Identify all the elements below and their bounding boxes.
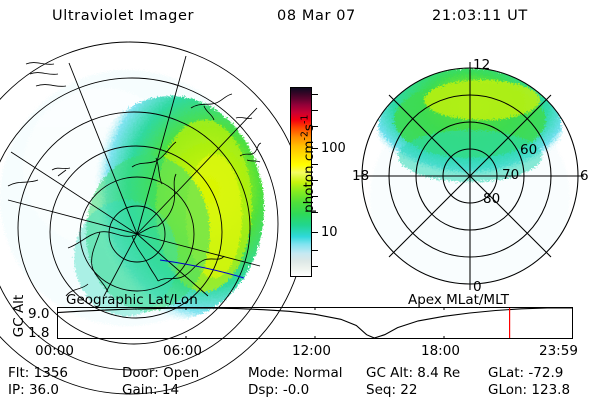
colorbar-exp-1: -2 [299,131,310,140]
mlt-grid [356,62,584,290]
altitude-tick-min: 1.8 [28,325,49,341]
time-tick-1800: 18:00 [421,343,460,359]
time-tick-1200: 12:00 [292,343,331,359]
colorbar-axis-unit: s [301,124,317,131]
altitude-curve-svg[interactable] [57,307,573,339]
colorbar-exp-2: -1 [299,115,310,124]
status-door: Door: Open [122,365,199,381]
status-ip: IP: 36.0 [8,382,59,398]
mlt-label-6: 6 [580,168,589,184]
status-dsp: Dsp: -0.0 [248,382,309,398]
altitude-curve [57,308,573,338]
colorbar-label-10: 10 [321,225,338,240]
colorbar-tick [312,266,318,267]
mlt-panel-title: Apex MLat/MLT [408,292,509,308]
colorbar-label-100: 100 [321,141,346,156]
geographic-plot[interactable] [8,48,266,296]
status-glon: GLon: 123.8 [488,382,570,398]
altitude-timeseries-plot[interactable] [57,307,573,339]
mlat-label-70: 70 [502,167,519,183]
altitude-axis-label: GC Alt [11,283,27,349]
altitude-plot-frame [58,308,573,339]
geographic-panel[interactable] [8,48,266,296]
mlt-panel[interactable]: 12 18 6 0 60 70 80 [352,48,596,296]
time-tick-0600: 06:00 [163,343,202,359]
observation-time: 21:03:11 UT [432,8,528,24]
mlt-label-18: 18 [352,168,369,184]
colorbar: 100 10 photon cm-2s-1 [270,60,352,300]
status-gain: Gain: 14 [122,382,179,398]
aurora-emission-geo [0,70,264,326]
status-mode: Mode: Normal [248,365,342,381]
status-gcalt: GC Alt: 8.4 Re [366,365,460,381]
page-title: Ultraviolet Imager [52,8,194,24]
colorbar-axis-label: photon cm-2s-1 [299,69,317,259]
colorbar-axis-label-text: photon cm [301,141,317,213]
status-seq: Seq: 22 [366,382,417,398]
status-flt: Flt: 1356 [8,365,68,381]
mlat-label-60: 60 [520,142,537,158]
geographic-panel-title: Geographic Lat/Lon [66,292,198,308]
status-glat: GLat: -72.9 [488,365,563,381]
mlt-label-12: 12 [473,57,490,73]
mlt-plot[interactable]: 12 18 6 0 60 70 80 [352,48,596,296]
header-bar: Ultraviolet Imager 08 Mar 07 21:03:11 UT [0,6,600,30]
time-tick-2359: 23:59 [539,343,578,359]
time-tick-0000: 00:00 [35,343,74,359]
mlat-label-80: 80 [483,191,500,207]
observation-date: 08 Mar 07 [277,8,356,24]
altitude-x-ticks [186,307,444,339]
altitude-tick-max: 9.0 [28,306,49,322]
